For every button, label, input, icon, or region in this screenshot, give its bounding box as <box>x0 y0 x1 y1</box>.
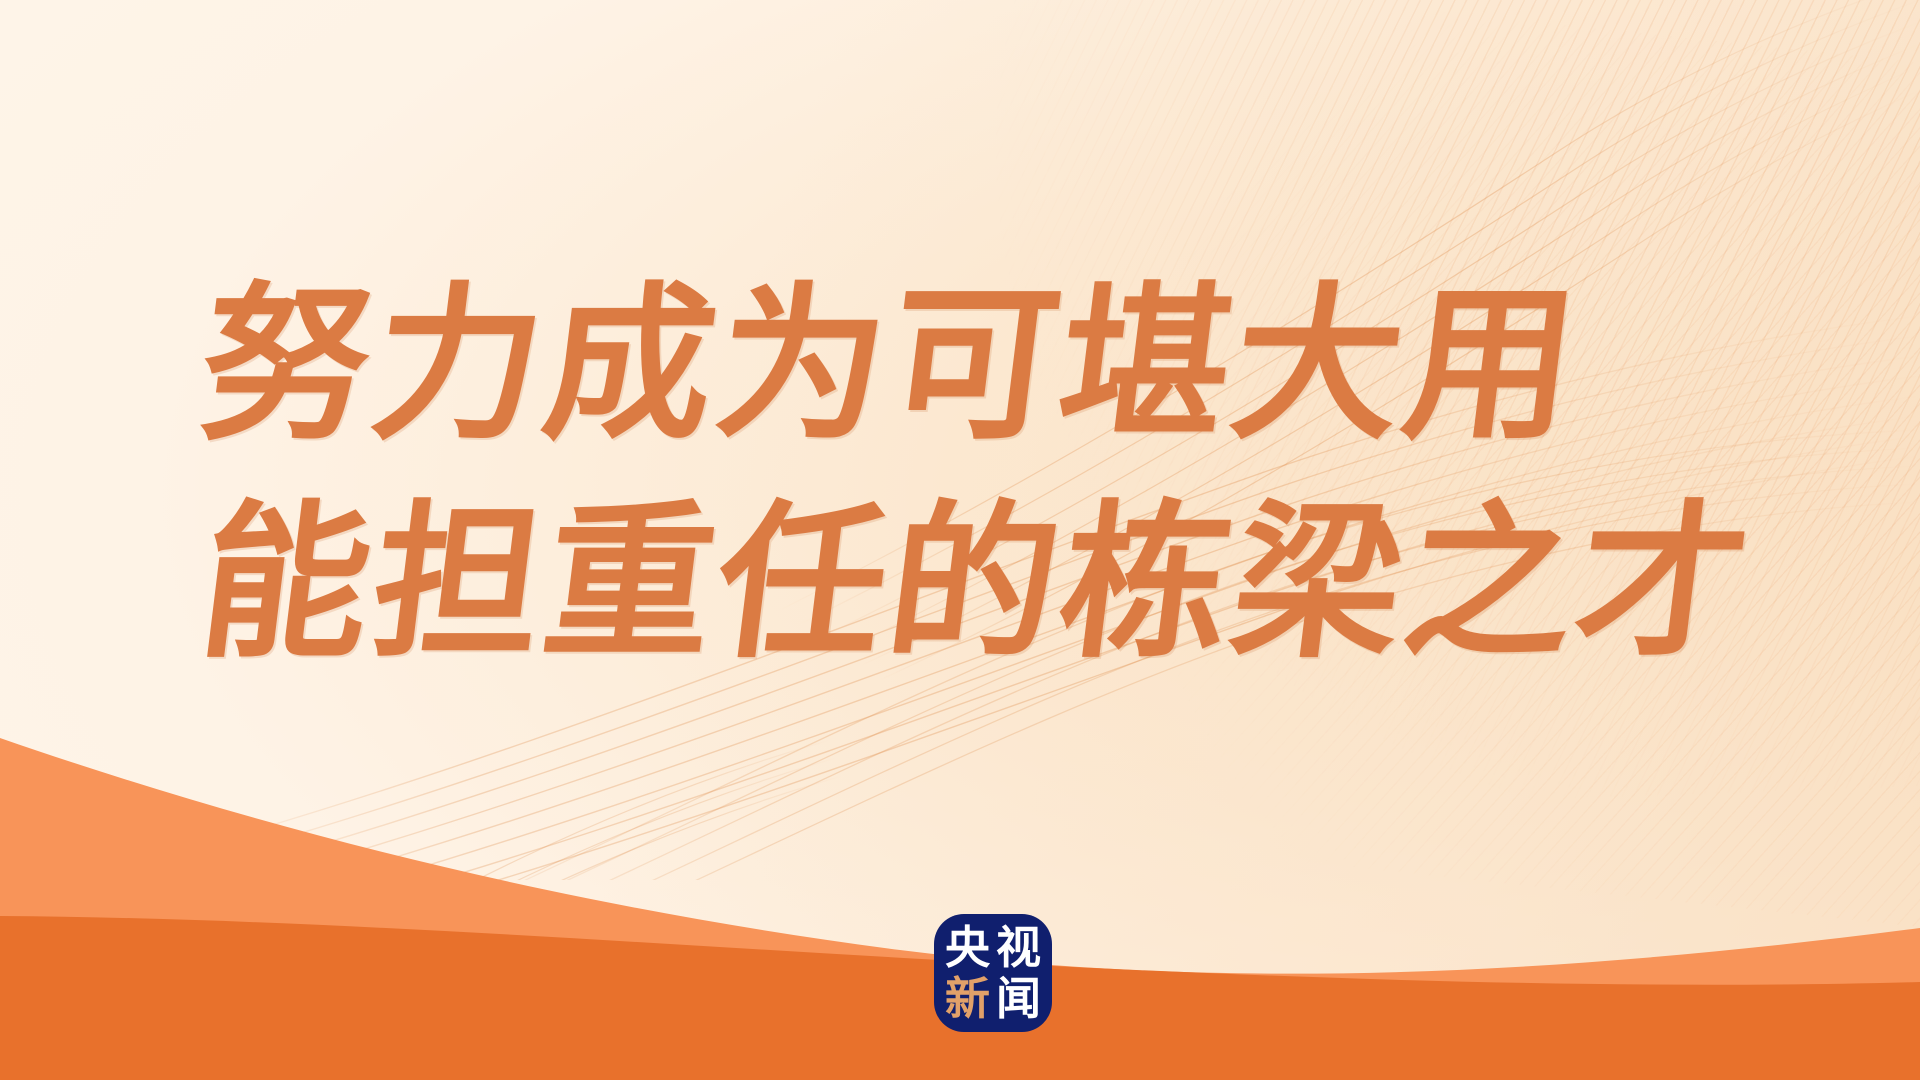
logo-glyph-yang: 央 <box>945 925 990 970</box>
logo-glyph-shi: 视 <box>996 925 1041 970</box>
cctv-news-logo[interactable]: 央 视 新 闻 <box>934 914 1052 1032</box>
poster-canvas: 努力成为可堪大用 能担重任的栋梁之才 央 视 新 闻 <box>0 0 1920 1080</box>
logo-glyph-wen: 闻 <box>996 976 1041 1021</box>
logo-glyph-xin: 新 <box>945 976 990 1021</box>
